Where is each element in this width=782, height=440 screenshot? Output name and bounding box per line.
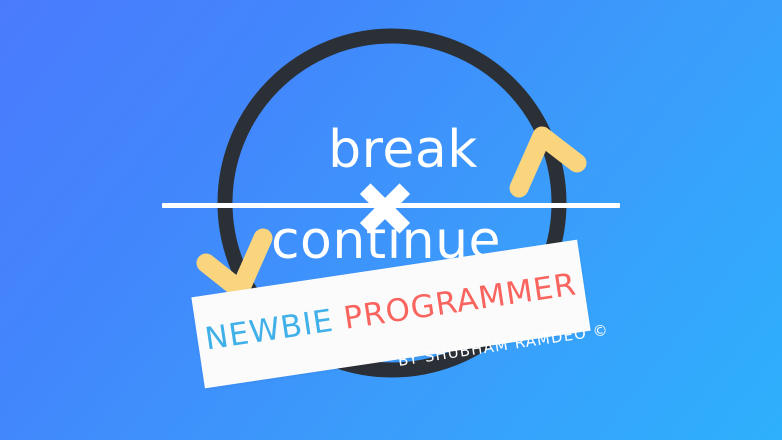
poster-canvas: break continue NEWBIE PROGRAMMER BY SHUB… (0, 0, 782, 440)
keyword-break: break (12, 124, 782, 176)
keyword-continue: continue (0, 215, 777, 267)
banner-title-programmer: PROGRAMMER (341, 267, 579, 337)
banner-title-newbie: NEWBIE (203, 303, 336, 358)
